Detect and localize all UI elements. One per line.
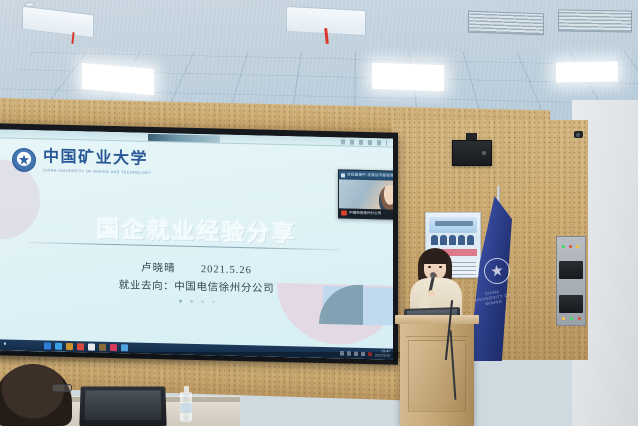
rack-unit-2[interactable]	[559, 295, 583, 313]
taskbar-icon-app7[interactable]	[110, 344, 117, 351]
pip-title-text: 在线直播中·沈德远专题视频会议	[347, 173, 393, 179]
pip-caption-text: 中国电信徐州分公司	[349, 211, 381, 217]
browser-tabs[interactable]	[148, 134, 220, 143]
presentation-slide: 中国矿业大学 CHINA UNIVERSITY OF MINING AND TE…	[0, 129, 393, 359]
presenter-hair-front	[421, 251, 449, 264]
taskbar-app-icons[interactable]	[44, 342, 128, 351]
hvac-vent	[558, 9, 632, 32]
status-led-green-2	[570, 317, 573, 320]
poster-headline-band	[429, 217, 477, 233]
slide-deco-dots	[179, 300, 215, 304]
hvac-vent	[468, 11, 544, 36]
start-button[interactable]	[0, 339, 12, 350]
smoke-detector	[24, 2, 35, 7]
presenter-eye-right	[439, 266, 442, 268]
poster-figure	[431, 235, 438, 245]
taskbar-icon-app8[interactable]	[121, 344, 128, 351]
taskbar-icon-app6[interactable]	[99, 344, 106, 351]
poster-figures	[431, 235, 474, 245]
deco-dot	[190, 300, 193, 303]
wall-mounted-speaker	[452, 140, 492, 166]
pip-caption-bar: 中国电信徐州分公司	[339, 208, 393, 219]
lecture-hall-photo: 中国矿业大学 CHINA UNIVERSITY OF MINING AND TE…	[0, 0, 638, 426]
poster-figure	[458, 235, 465, 245]
projection-screen[interactable]: 中国矿业大学 CHINA UNIVERSITY OF MINING AND TE…	[0, 123, 398, 365]
pip-live-badge	[341, 210, 347, 215]
taskbar-icon-app1[interactable]	[44, 342, 51, 349]
windows-logo-icon	[4, 342, 9, 347]
ceiling-light-panel	[556, 61, 618, 82]
taskbar-icon-app5[interactable]	[88, 343, 95, 350]
university-name-cn: 中国矿业大学	[43, 149, 151, 168]
university-branding: 中国矿业大学 CHINA UNIVERSITY OF MINING AND TE…	[12, 148, 151, 175]
taskbar-icon-app2[interactable]	[55, 343, 62, 350]
cumt-emblem-icon	[12, 148, 36, 173]
water-bottle	[180, 392, 192, 422]
slide-title: 国企就业经验分享	[97, 210, 297, 249]
ceiling-light-panel	[372, 63, 444, 92]
status-led-red-2	[578, 317, 581, 320]
pip-video-feed	[339, 179, 393, 210]
presenter-name: 卢晓晴	[141, 263, 176, 275]
status-led-green	[562, 245, 565, 248]
audience-laptop	[79, 386, 166, 426]
wooden-lectern	[400, 320, 474, 426]
presentation-date: 2021.5.26	[201, 264, 252, 276]
pip-app-icon	[341, 173, 345, 177]
bottle-label	[180, 403, 192, 413]
status-led-amber	[576, 245, 579, 248]
poster-figure	[449, 235, 456, 245]
rack-unit-1[interactable]	[559, 261, 583, 279]
lectern-front-panel	[408, 340, 466, 412]
presenter-hand	[428, 290, 435, 297]
taskbar-icon-folder[interactable]	[66, 343, 73, 350]
lectern-top-surface	[395, 315, 479, 324]
slide-destination-line: 就业去向：中国电信徐州分公司	[119, 277, 274, 296]
poster-figure	[467, 235, 474, 245]
security-camera-icon	[574, 131, 583, 138]
av-control-rack[interactable]	[556, 236, 586, 326]
browser-toolbar-icons[interactable]	[341, 139, 387, 145]
poster-figure	[440, 235, 447, 245]
university-name-en: CHINA UNIVERSITY OF MINING AND TECHNOLOG…	[43, 168, 151, 175]
presenter-eye-left	[428, 266, 431, 268]
deco-dot	[201, 300, 204, 303]
screen-shadow	[0, 352, 400, 364]
deco-dot	[179, 300, 182, 303]
taskbar-icon-browser[interactable]	[77, 343, 84, 350]
slide-presenter-line: 卢晓晴 2021.5.26	[141, 260, 252, 278]
status-led-amber-2	[562, 317, 565, 320]
deco-dot	[212, 300, 215, 303]
browser-top-strip	[0, 129, 393, 147]
lectern-seam	[406, 336, 468, 337]
screen-display-area: 中国矿业大学 CHINA UNIVERSITY OF MINING AND TE…	[0, 129, 393, 359]
attendee-glasses	[52, 384, 72, 392]
video-conference-window[interactable]: 在线直播中·沈德远专题视频会议 中国电信徐州分公司	[338, 169, 393, 220]
status-led-red	[569, 245, 572, 248]
